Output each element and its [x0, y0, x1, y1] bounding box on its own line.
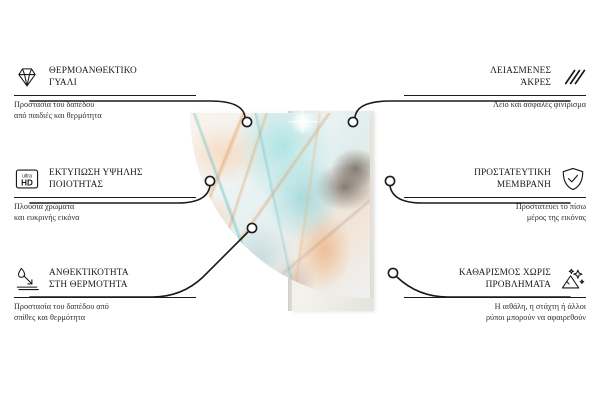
- feature-protective-membrane: ΠΡΟΣΤΑΤΕΥΤΙΚΗ ΜΕΜΒΡΑΝΗ Προστατεύει το πί…: [404, 166, 586, 223]
- divider: [14, 197, 196, 198]
- feature-header: ΘΕΡΜΟΑΝΘΕΚΤΙΚΟ ΓΥΑΛΙ: [14, 64, 196, 90]
- feature-header: ΠΡΟΣΤΑΤΕΥΤΙΚΗ ΜΕΜΒΡΑΝΗ: [404, 166, 586, 192]
- feature-easy-cleaning: ΚΑΘΑΡΙΣΜΟΣ ΧΩΡΙΣ ΠΡΟΒΛΗΜΑΤΑ Η αιθάλη, η …: [404, 266, 586, 323]
- feature-title: ΑΝΘΕΚΤΙΚΟΤΗΤΑ ΣΤΗ ΘΕΡΜΟΤΗΤΑ: [49, 267, 129, 291]
- feature-header: ultra HD ΕΚΤΥΠΩΣΗ ΥΨΗΛΗΣ ΠΟΙΟΤΗΤΑΣ: [14, 166, 196, 192]
- feature-title: ΚΑΘΑΡΙΣΜΟΣ ΧΩΡΙΣ ΠΡΟΒΛΗΜΑΤΑ: [459, 267, 551, 291]
- feature-title: ΘΕΡΜΟΑΝΘΕΚΤΙΚΟ ΓΥΑΛΙ: [49, 65, 137, 89]
- hd-label: HD: [21, 179, 33, 188]
- shield-check-icon: [560, 166, 586, 192]
- title-line-1: ΕΚΤΥΠΩΣΗ ΥΨΗΛΗΣ: [49, 167, 143, 179]
- sub-line-1: Προστατεύει το πίσω: [404, 202, 586, 213]
- feature-subtitle: Η αιθάλη, η στάχτη ή άλλοι ρύποι μπορούν…: [404, 302, 586, 323]
- title-line-1: ΘΕΡΜΟΑΝΘΕΚΤΙΚΟ: [49, 65, 137, 77]
- title-line-2: ΠΡΟΒΛΗΜΑΤΑ: [459, 279, 551, 291]
- feature-polished-edges: ΛΕΙΑΣΜΕΝΕΣ ΆΚΡΕΣ Λείο και ασφαλές φινίρι…: [404, 64, 586, 111]
- glass-splashback: [190, 113, 370, 298]
- sub-line-2: ρύποι μπορούν να αφαιρεθούν: [404, 313, 586, 324]
- feature-subtitle: Προστασία του δαπέδου από σπίθες και θερ…: [14, 302, 196, 323]
- title-line-1: ΑΝΘΕΚΤΙΚΟΤΗΤΑ: [49, 267, 129, 279]
- divider: [404, 197, 586, 198]
- product-image: [180, 85, 420, 315]
- feature-title: ΛΕΙΑΣΜΕΝΕΣ ΆΚΡΕΣ: [490, 65, 551, 89]
- heat-resistance-icon: [14, 266, 40, 292]
- feature-header: ΚΑΘΑΡΙΣΜΟΣ ΧΩΡΙΣ ΠΡΟΒΛΗΜΑΤΑ: [404, 266, 586, 292]
- feature-title: ΠΡΟΣΤΑΤΕΥΤΙΚΗ ΜΕΜΒΡΑΝΗ: [474, 167, 551, 191]
- diamond-icon: [14, 64, 40, 90]
- feature-header: ΛΕΙΑΣΜΕΝΕΣ ΆΚΡΕΣ: [404, 64, 586, 90]
- polished-edges-icon: [560, 64, 586, 90]
- sub-line-1: Πλούσια χρώματα: [14, 202, 196, 213]
- title-line-1: ΚΑΘΑΡΙΣΜΟΣ ΧΩΡΙΣ: [459, 267, 551, 279]
- glass-sheen: [190, 113, 370, 298]
- title-line-2: ΜΕΜΒΡΑΝΗ: [474, 179, 551, 191]
- ultra-hd-icon: ultra HD: [14, 166, 40, 192]
- sub-line-2: μέρος της εικόνας: [404, 213, 586, 224]
- feature-header: ΑΝΘΕΚΤΙΚΟΤΗΤΑ ΣΤΗ ΘΕΡΜΟΤΗΤΑ: [14, 266, 196, 292]
- sub-line-1: Η αιθάλη, η στάχτη ή άλλοι: [404, 302, 586, 313]
- title-line-1: ΠΡΟΣΤΑΤΕΥΤΙΚΗ: [474, 167, 551, 179]
- feature-high-quality-print: ultra HD ΕΚΤΥΠΩΣΗ ΥΨΗΛΗΣ ΠΟΙΟΤΗΤΑΣ Πλούσ…: [14, 166, 196, 223]
- feature-title: ΕΚΤΥΠΩΣΗ ΥΨΗΛΗΣ ΠΟΙΟΤΗΤΑΣ: [49, 167, 143, 191]
- title-line-2: ΣΤΗ ΘΕΡΜΟΤΗΤΑ: [49, 279, 129, 291]
- feature-subtitle: Προστατεύει το πίσω μέρος της εικόνας: [404, 202, 586, 223]
- feature-subtitle: Πλούσια χρώματα και ευκρινής εικόνα: [14, 202, 196, 223]
- feature-subtitle: Λείο και ασφαλές φινίρισμα: [404, 100, 586, 111]
- feature-subtitle: Προστασία του δαπέδου από παιδιές και θε…: [14, 100, 196, 121]
- sub-line-1: Προστασία του δαπέδου: [14, 100, 196, 111]
- easy-cleaning-icon: [560, 266, 586, 292]
- title-line-2: ΓΥΑΛΙ: [49, 77, 137, 89]
- title-line-1: ΛΕΙΑΣΜΕΝΕΣ: [490, 65, 551, 77]
- glare-sparkle-icon: [290, 109, 316, 135]
- feature-heat-resistant-glass: ΘΕΡΜΟΑΝΘΕΚΤΙΚΟ ΓΥΑΛΙ Προστασία του δαπέδ…: [14, 64, 196, 121]
- divider: [404, 95, 586, 96]
- sub-line-2: και ευκρινής εικόνα: [14, 213, 196, 224]
- title-line-2: ΆΚΡΕΣ: [490, 77, 551, 89]
- sub-line-1: Προστασία του δαπέδου από: [14, 302, 196, 313]
- title-line-2: ΠΟΙΟΤΗΤΑΣ: [49, 179, 143, 191]
- sub-line-2: από παιδιές και θερμότητα: [14, 111, 196, 122]
- sub-line-2: σπίθες και θερμότητα: [14, 313, 196, 324]
- sub-line-1: Λείο και ασφαλές φινίρισμα: [404, 100, 586, 111]
- divider: [14, 297, 196, 298]
- feature-heat-durability: ΑΝΘΕΚΤΙΚΟΤΗΤΑ ΣΤΗ ΘΕΡΜΟΤΗΤΑ Προστασία το…: [14, 266, 196, 323]
- divider: [404, 297, 586, 298]
- infographic-stage: ΘΕΡΜΟΑΝΘΕΚΤΙΚΟ ΓΥΑΛΙ Προστασία του δαπέδ…: [0, 0, 600, 400]
- divider: [14, 95, 196, 96]
